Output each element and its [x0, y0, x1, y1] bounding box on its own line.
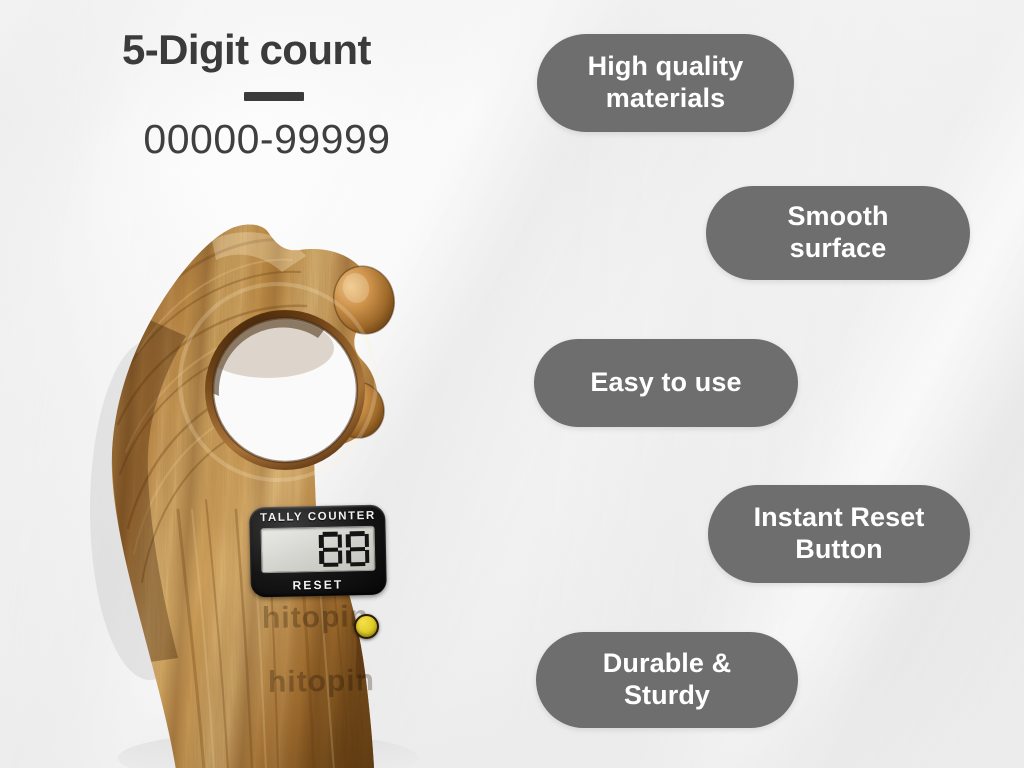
product-feature-graphic: 5-Digit count 00000-99999: [0, 0, 1024, 768]
page-title: 5-Digit count: [122, 28, 522, 72]
count-range-text: 00000-99999: [122, 119, 412, 160]
reset-button[interactable]: [354, 614, 379, 639]
product-image: hitopin: [0, 210, 520, 768]
finger-ring-hole: [180, 284, 376, 480]
feature-badge-high-quality-materials[interactable]: High qualitymaterials: [537, 34, 794, 132]
feature-badge-label: High qualitymaterials: [588, 51, 744, 115]
feature-badge-smooth-surface[interactable]: Smoothsurface: [706, 186, 970, 280]
lcd-digit-ones: [346, 531, 370, 566]
feature-badge-instant-reset-button[interactable]: Instant ResetButton: [708, 485, 970, 583]
feature-badge-durable-sturdy[interactable]: Durable &Sturdy: [536, 632, 798, 728]
tally-counter-illustration: [0, 210, 520, 768]
feature-badge-label: Instant ResetButton: [754, 502, 925, 566]
feature-badge-label: Smoothsurface: [787, 201, 888, 265]
module-reset-label: RESET: [250, 577, 386, 594]
title-divider: [244, 92, 304, 101]
feature-badge-easy-to-use[interactable]: Easy to use: [534, 339, 798, 427]
headline-block: 5-Digit count 00000-99999: [122, 28, 522, 160]
tally-counter-module: TALLY COUNTER RESET: [250, 506, 386, 596]
feature-badge-label: Easy to use: [590, 367, 741, 399]
lcd-digit-tens: [319, 532, 343, 567]
lcd-display: [261, 526, 376, 573]
feature-badge-label: Durable &Sturdy: [603, 648, 731, 712]
